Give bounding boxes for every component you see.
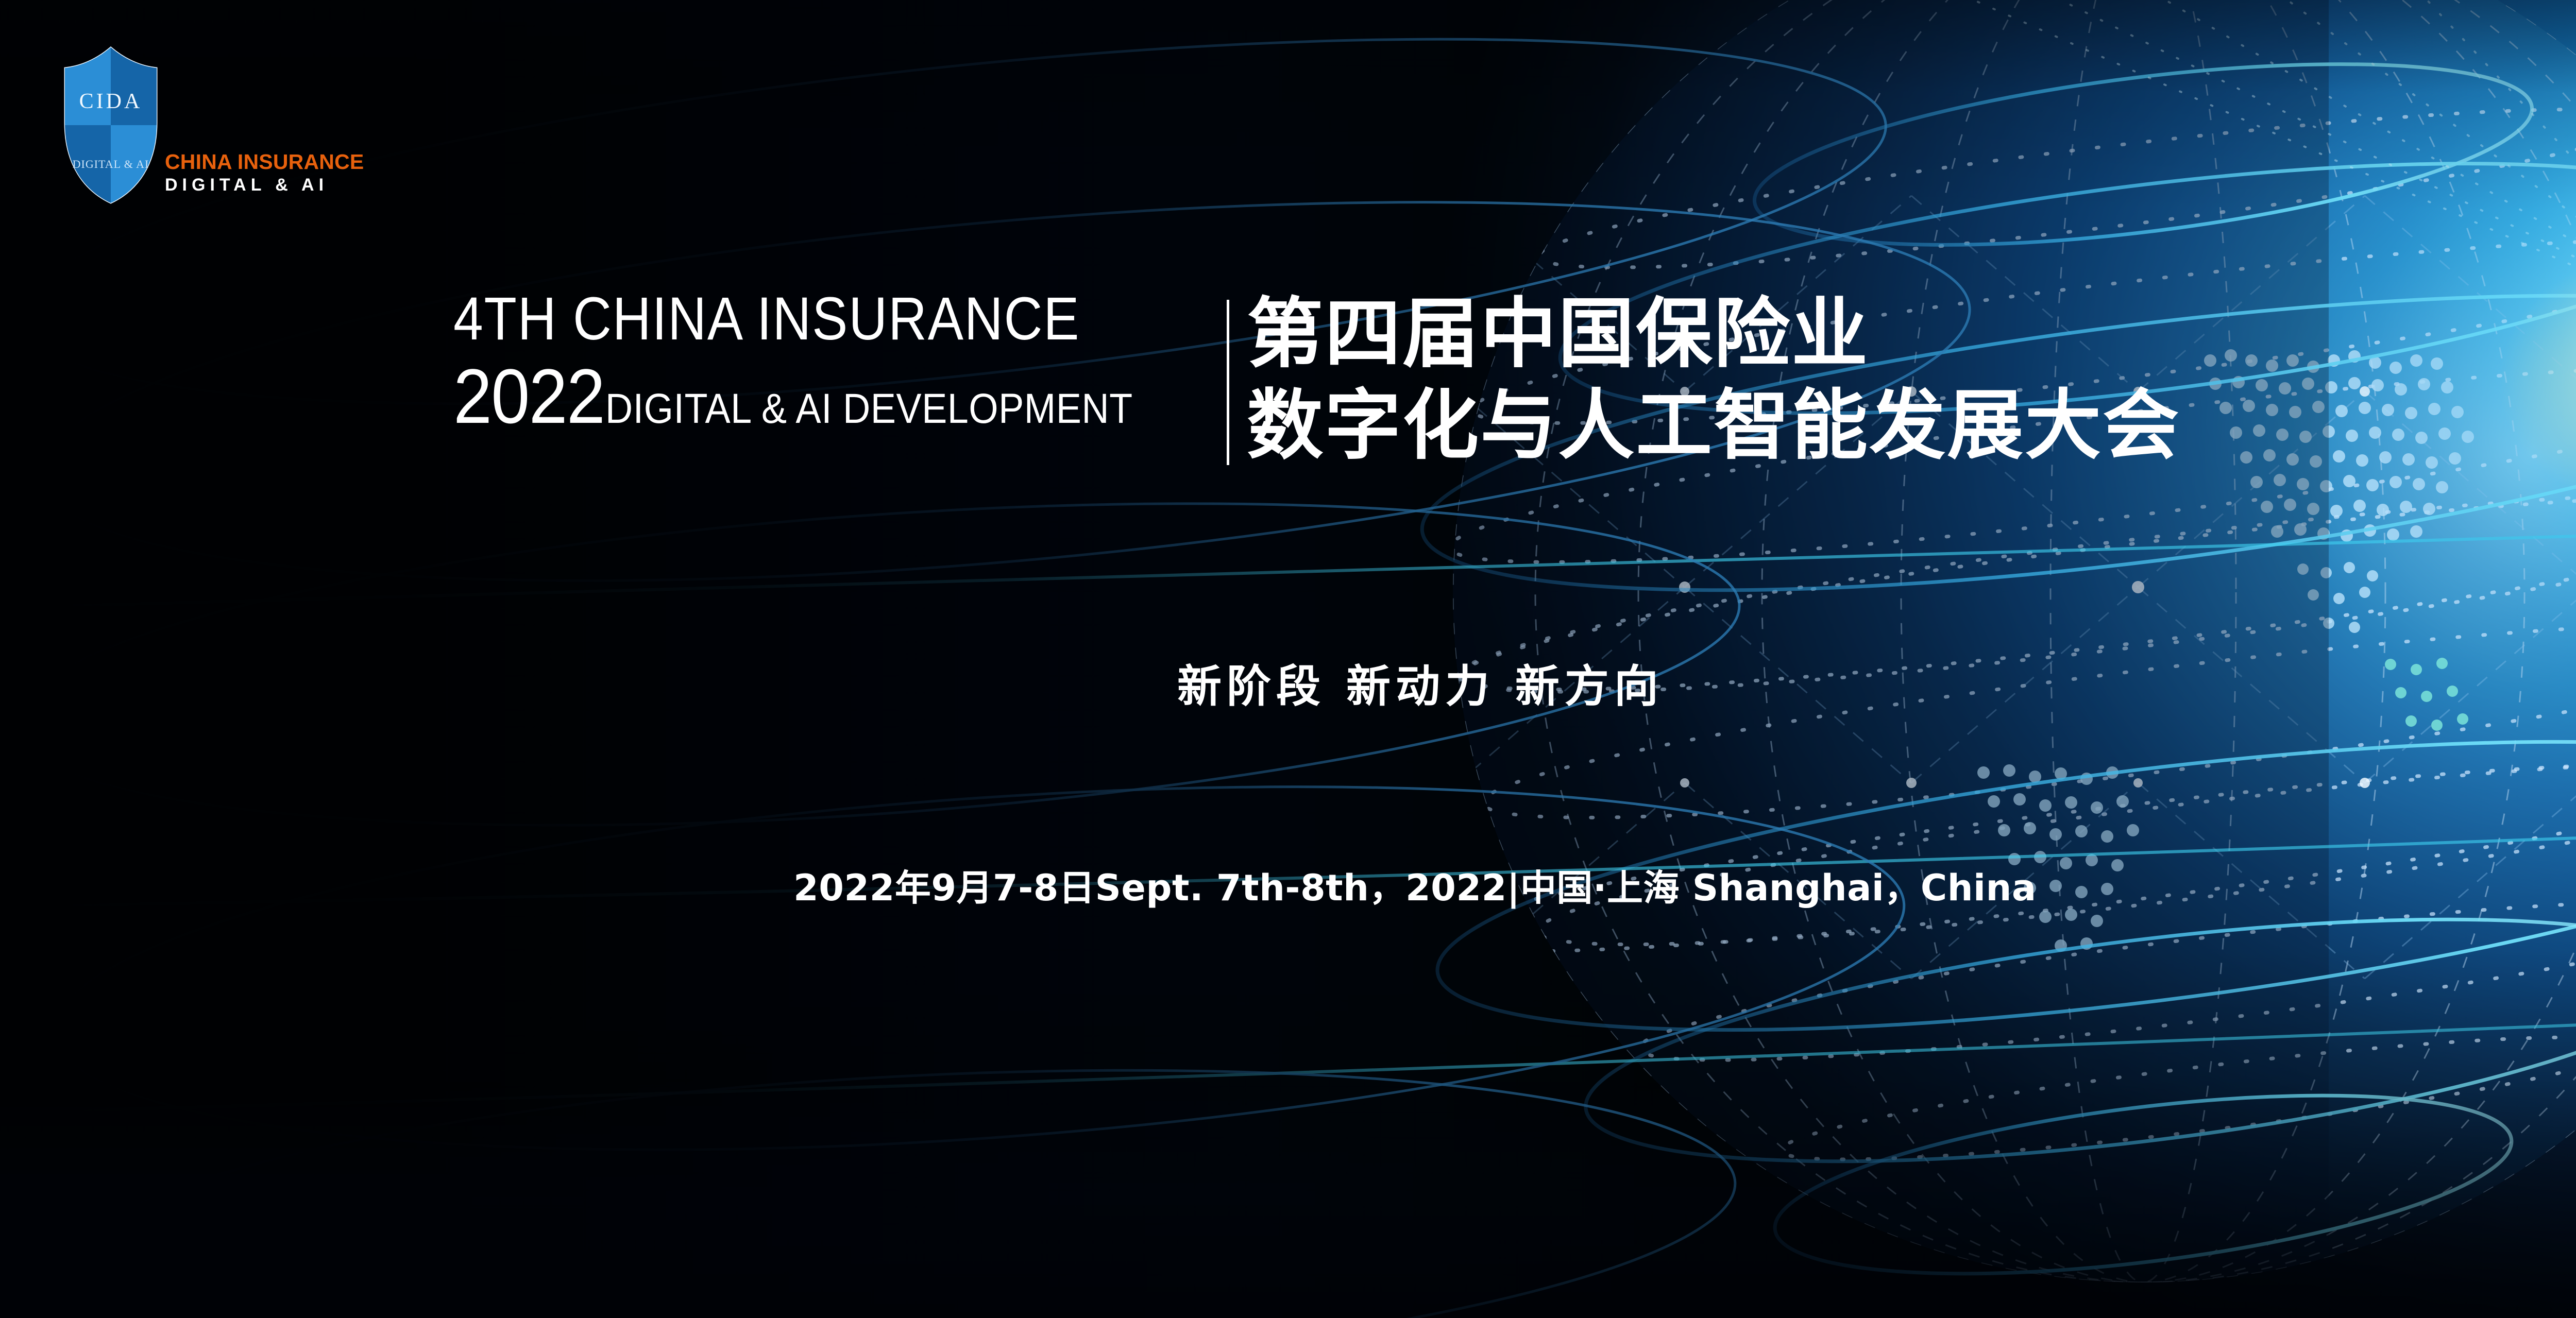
headline-en-line1: 4TH CHINA INSURANCE <box>453 288 1080 349</box>
headline-english: 4TH CHINA INSURANCE 2022 DIGITAL & AI DE… <box>453 288 1227 433</box>
headline-block: 4TH CHINA INSURANCE 2022 DIGITAL & AI DE… <box>453 288 2180 471</box>
conference-tagline: 新阶段 新动力 新方向 <box>1177 650 1664 714</box>
cida-logo[interactable]: CIDA DIGITAL & AI CHINA INSURANCE DIGITA… <box>62 45 364 205</box>
headline-year: 2022 <box>453 361 604 432</box>
headline-en-line2: 2022 DIGITAL & AI DEVELOPMENT <box>453 361 1133 433</box>
shield-tagline-text: DIGITAL & AI <box>73 158 149 170</box>
conference-banner: CIDA DIGITAL & AI CHINA INSURANCE DIGITA… <box>0 0 2576 1318</box>
headline-en-subtitle: DIGITAL & AI DEVELOPMENT <box>605 385 1133 433</box>
headline-chinese: 第四届中国保险业 数字化与人工智能发展大会 <box>1229 288 2180 471</box>
date-venue-line: 2022年9月7-8日Sept. 7th-8th，2022|中国·上海 Shan… <box>793 859 2037 911</box>
logo-wordmark-line2: DIGITAL & AI <box>165 176 364 194</box>
headline-cn-line2: 数字化与人工智能发展大会 <box>1247 380 2180 472</box>
cida-shield-icon: CIDA DIGITAL & AI <box>62 45 160 205</box>
logo-wordmark: CHINA INSURANCE DIGITAL & AI <box>165 151 364 194</box>
shield-cida-text: CIDA <box>79 90 143 113</box>
logo-wordmark-line1: CHINA INSURANCE <box>165 151 364 173</box>
headline-cn-line1: 第四届中国保险业 <box>1247 288 2180 380</box>
